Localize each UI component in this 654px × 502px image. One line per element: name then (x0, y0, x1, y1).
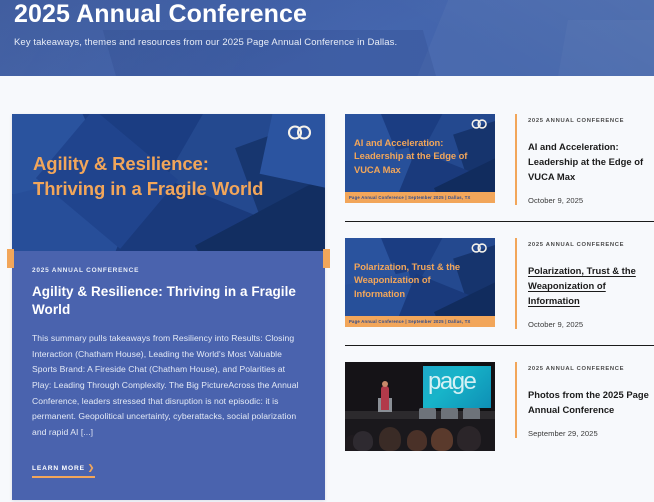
accent-bar-right (323, 249, 330, 268)
post-title-link[interactable]: AI and Acceleration: Leadership at the E… (528, 139, 654, 184)
featured-article-card[interactable]: Agility & Resilience: Thriving in a Frag… (12, 114, 325, 500)
learn-more-link[interactable]: LEARN MORE❯ (32, 463, 95, 478)
post-title-link[interactable]: Photos from the 2025 Page Annual Confere… (528, 387, 654, 417)
thumbnail-slide-title: AI and Acceleration: Leadership at the E… (354, 136, 481, 176)
featured-hero-image[interactable]: Agility & Resilience: Thriving in a Frag… (12, 114, 325, 251)
thumbnail-slide-title: Polarization, Trust & the Weaponization … (354, 260, 481, 300)
page-rings-logo-icon (471, 243, 488, 253)
photo-audience-head (457, 426, 481, 451)
post-title-link[interactable]: Polarization, Trust & the Weaponization … (528, 263, 654, 308)
photo-audience-head (379, 427, 401, 451)
featured-card-body: 2025 ANNUAL CONFERENCE Agility & Resilie… (12, 251, 325, 500)
featured-excerpt: This summary pulls takeaways from Resili… (32, 331, 305, 440)
post-meta: 2025 ANNUAL CONFERENCE Polarization, Tru… (515, 238, 654, 329)
featured-headline[interactable]: Agility & Resilience: Thriving in a Frag… (32, 283, 305, 320)
list-item[interactable]: Polarization, Trust & the Weaponization … (345, 238, 654, 345)
post-eyebrow: 2025 ANNUAL CONFERENCE (528, 362, 654, 372)
page-header: 2025 Annual Conference Key takeaways, th… (0, 0, 654, 76)
photo-audience-head (353, 431, 373, 451)
list-item[interactable]: page 2025 ANNUAL CONFERENCE Photos (345, 362, 654, 467)
post-eyebrow: 2025 ANNUAL CONFERENCE (528, 238, 654, 248)
post-list-column: AI and Acceleration: Leadership at the E… (345, 114, 654, 467)
accent-bar-left (7, 249, 14, 268)
page-title: 2025 Annual Conference (0, 0, 654, 27)
page-rings-logo-icon (471, 119, 488, 129)
thumbnail-footer-bar: Page Annual Conference | September 2025 … (345, 316, 495, 327)
page-subtitle: Key takeaways, themes and resources from… (0, 27, 654, 49)
photo-audience-head (431, 428, 453, 451)
featured-eyebrow: 2025 ANNUAL CONFERENCE (32, 267, 305, 274)
featured-column: Agility & Resilience: Thriving in a Frag… (12, 114, 327, 500)
post-date: October 9, 2025 (528, 320, 654, 329)
list-divider (345, 221, 654, 222)
post-date: September 29, 2025 (528, 429, 654, 438)
featured-hero-title: Agility & Resilience: Thriving in a Frag… (33, 152, 285, 201)
page-rings-logo-icon (287, 125, 313, 140)
learn-more-label: LEARN MORE (32, 465, 85, 472)
post-eyebrow: 2025 ANNUAL CONFERENCE (528, 114, 654, 124)
post-thumbnail-slide[interactable]: AI and Acceleration: Leadership at the E… (345, 114, 495, 203)
thumbnail-footer-bar: Page Annual Conference | September 2025 … (345, 192, 495, 203)
list-divider (345, 345, 654, 346)
list-item[interactable]: AI and Acceleration: Leadership at the E… (345, 114, 654, 221)
photo-audience-head (407, 430, 427, 451)
chevron-right-icon: ❯ (88, 463, 95, 472)
post-meta: 2025 ANNUAL CONFERENCE AI and Accelerati… (515, 114, 654, 205)
photo-speaker (381, 386, 389, 410)
page-wordmark-on-screen: page (428, 370, 475, 394)
post-date: October 9, 2025 (528, 196, 654, 205)
photo-stage-screen: page (423, 366, 491, 408)
post-thumbnail-slide[interactable]: Polarization, Trust & the Weaponization … (345, 238, 495, 327)
post-thumbnail-photo[interactable]: page (345, 362, 495, 451)
post-meta: 2025 ANNUAL CONFERENCE Photos from the 2… (515, 362, 654, 438)
content-area: Agility & Resilience: Thriving in a Frag… (0, 76, 654, 500)
